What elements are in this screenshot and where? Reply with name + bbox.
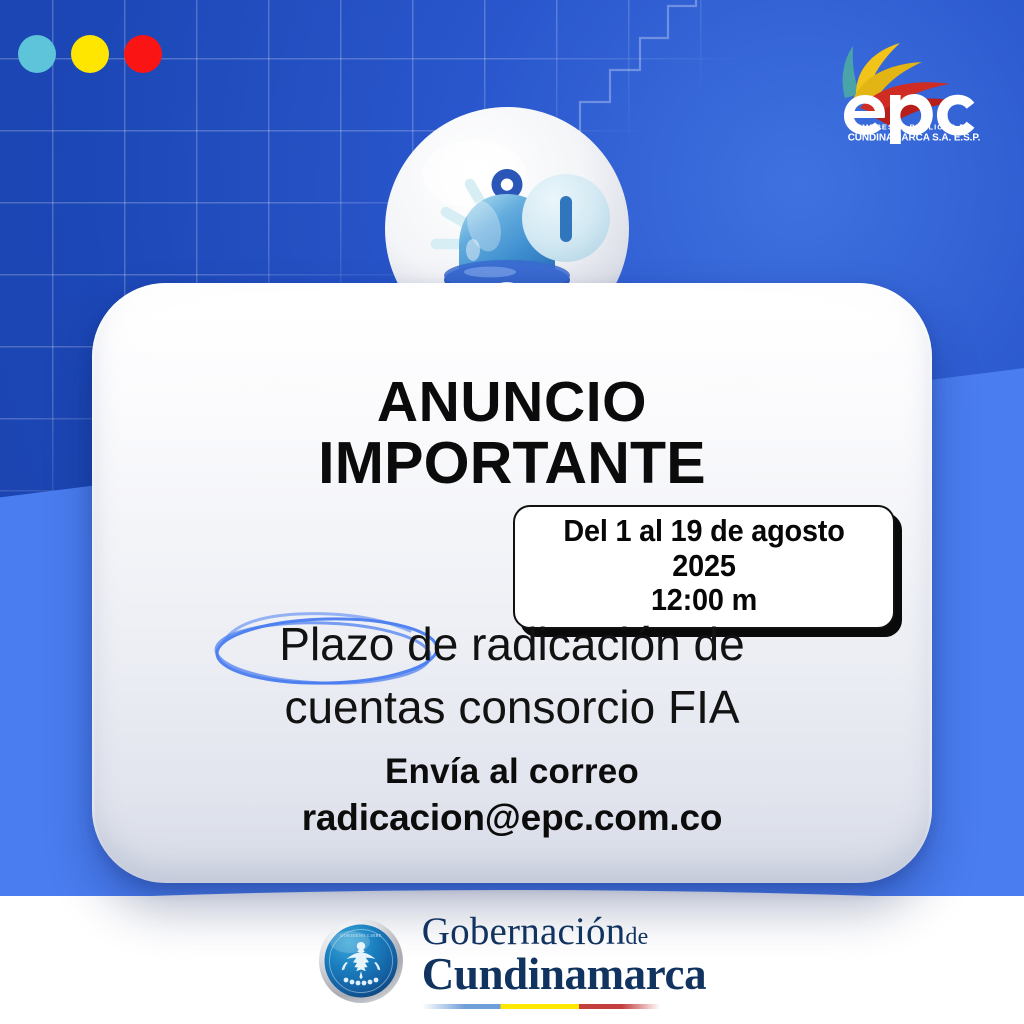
epc-logo: EMPRESAS PÚBLICAS DE CUNDINAMARCA S.A. E…: [826, 24, 1002, 144]
dot-yellow-icon: [71, 35, 109, 73]
email-block: Envía al correo radicacion@epc.com.co: [92, 751, 932, 841]
email-label: Envía al correo: [92, 751, 932, 794]
body-text: Plazo de radicación de cuentas consorcio…: [92, 613, 932, 740]
dot-cyan-icon: [18, 35, 56, 73]
gobernacion-title-line-1: Gobernaciónde: [422, 912, 706, 951]
body-line-1: Plazo de radicación de: [92, 613, 932, 676]
date-badge: Del 1 al 19 de agosto 2025 12:00 m: [513, 505, 895, 629]
announcement-poster: EMPRESAS PÚBLICAS DE CUNDINAMARCA S.A. E…: [0, 0, 1024, 1024]
tricolor-bar-icon: [422, 1004, 660, 1009]
cundinamarca-seal-icon: GOBIERNO LIBRE: [318, 918, 404, 1004]
gobernacion-de-word: de: [625, 924, 648, 950]
gobernacion-text: Gobernaciónde Cundinamarca: [422, 912, 706, 1009]
headline-line-2: IMPORTANTE: [92, 433, 932, 495]
decorative-dots: [18, 35, 162, 73]
gobernacion-logo: GOBIERNO LIBRE Gobernaciónde Cundinamarc…: [0, 912, 1024, 1009]
gobernacion-word: Gobernación: [422, 910, 626, 953]
announcement-card: ANUNCIO IMPORTANTE Del 1 al 19 de agosto…: [92, 283, 932, 883]
email-address[interactable]: radicacion@epc.com.co: [92, 794, 932, 841]
epc-tagline-2: CUNDINAMARCA S.A. E.S.P.: [848, 133, 981, 144]
seal-motto: GOBIERNO LIBRE: [340, 933, 382, 938]
body-line-2: cuentas consorcio FIA: [92, 676, 932, 739]
headline-line-1: ANUNCIO: [92, 373, 932, 433]
gobernacion-title-line-2: Cundinamarca: [422, 952, 706, 997]
badge-exclamation-mark: [560, 196, 572, 242]
epc-tagline-1: EMPRESAS PÚBLICAS DE: [856, 123, 972, 132]
page-title: ANUNCIO IMPORTANTE: [92, 373, 932, 495]
date-badge-line-1: Del 1 al 19 de agosto 2025: [541, 514, 867, 583]
dot-red-icon: [124, 35, 162, 73]
